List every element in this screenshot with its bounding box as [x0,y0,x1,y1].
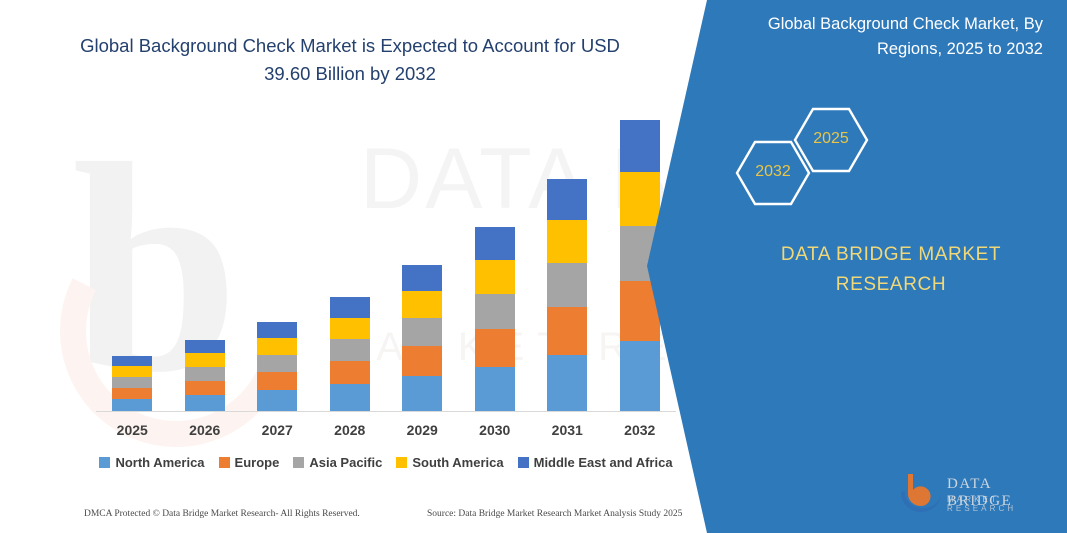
bar-segment [330,361,370,384]
bar-segment [112,356,152,366]
legend-label: Europe [235,455,280,470]
bar-segment [185,367,225,381]
logo-bridge-icon [897,470,945,514]
logo-text-sub: MARKET RESEARCH [947,495,1047,513]
bar-segment [330,384,370,411]
hexagon-2032-label: 2032 [745,163,801,181]
bar-segment [475,294,515,329]
bar-segment [257,355,297,372]
legend-item[interactable]: South America [396,455,503,470]
x-axis-label: 2030 [459,422,532,438]
bar-column [314,297,387,411]
bar-segment [257,390,297,411]
chart-title: Global Background Check Market is Expect… [60,32,640,88]
bar-segment [547,307,587,355]
bar-column [169,340,242,411]
legend-swatch-icon [396,457,407,468]
bar-segment [112,399,152,411]
bar-segment [330,297,370,318]
bar-segment [475,260,515,294]
bar-segment [257,372,297,390]
x-axis-label: 2025 [96,422,169,438]
bar-segment [112,377,152,388]
bar-segment [185,381,225,395]
bar-column [96,356,169,411]
bar-column [459,227,532,411]
bar-segment [402,291,442,318]
footer-copyright: DMCA Protected © Data Bridge Market Rese… [84,509,360,519]
legend-label: Asia Pacific [309,455,382,470]
legend-item[interactable]: North America [99,455,204,470]
bar-segment [547,179,587,220]
bar-segment [547,355,587,411]
legend-swatch-icon [293,457,304,468]
legend-swatch-icon [518,457,529,468]
bar-column [531,179,604,411]
bar-segment [257,338,297,355]
legend-item[interactable]: Asia Pacific [293,455,382,470]
side-panel-title: Global Background Check Market, By Regio… [743,12,1043,62]
bar-column [241,322,314,411]
legend-label: South America [412,455,503,470]
chart-legend: North AmericaEuropeAsia PacificSouth Ame… [96,455,676,470]
legend-item[interactable]: Europe [219,455,280,470]
bar-column [386,265,459,411]
bar-segment [402,318,442,346]
brand-name: DATA BRIDGE MARKET RESEARCH [741,240,1041,300]
bar-segment [185,395,225,411]
stacked-bar-chart [96,120,676,412]
bar-segment [112,388,152,399]
infographic-root: b DATA BRIDGE MARKET RESEARCH Global Bac… [0,0,1067,533]
x-axis-label: 2026 [169,422,242,438]
legend-swatch-icon [219,457,230,468]
logo: DATA BRIDGE MARKET RESEARCH [897,470,1047,516]
bar-segment [475,367,515,411]
bar-segment [547,220,587,263]
bar-segment [185,353,225,367]
hexagon-2025-label: 2025 [803,130,859,148]
bar-segment [547,263,587,307]
x-axis-label: 2031 [531,422,604,438]
bar-segment [402,265,442,291]
bar-segment [185,340,225,353]
x-axis-label: 2029 [386,422,459,438]
footer-source: Source: Data Bridge Market Research Mark… [427,509,682,519]
bar-segment [257,322,297,338]
bar-segment [402,376,442,411]
bar-segment [330,318,370,339]
legend-label: North America [115,455,204,470]
side-panel: Global Background Check Market, By Regio… [647,0,1067,533]
x-axis-label: 2028 [314,422,387,438]
bar-segment [475,227,515,260]
bar-segment [112,366,152,377]
bar-segment [402,346,442,376]
legend-swatch-icon [99,457,110,468]
x-axis-line [96,411,676,412]
x-axis-label: 2027 [241,422,314,438]
bar-segment [475,329,515,367]
bar-segment [330,339,370,361]
x-axis-labels: 20252026202720282029203020312032 [96,422,676,446]
